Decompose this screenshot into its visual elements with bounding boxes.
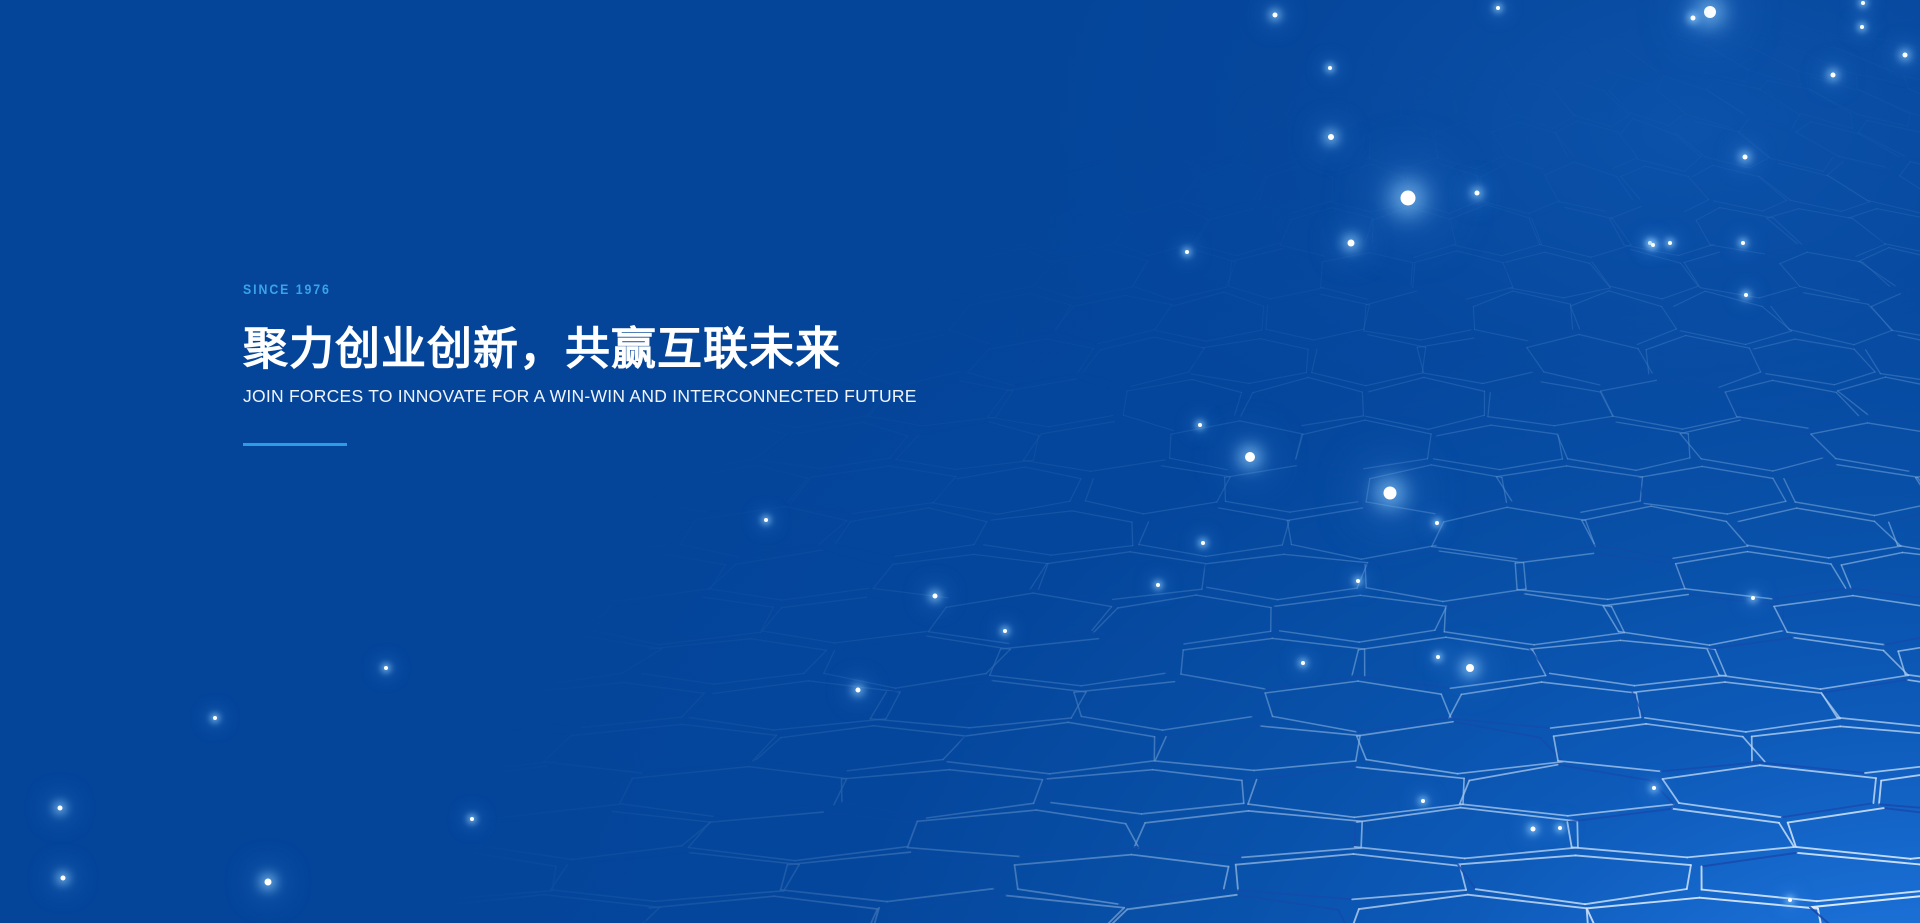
hex-mesh-pattern: [0, 0, 1920, 923]
hero-headline: 聚力创业创新，共赢互联未来: [243, 324, 1143, 374]
hero-eyebrow: SINCE 1976: [243, 282, 1035, 296]
hero-banner: SINCE 1976 聚力创业创新，共赢互联未来 JOIN FORCES TO …: [0, 0, 1920, 923]
hero-accent-bar: [243, 443, 347, 446]
hero-subheadline: JOIN FORCES TO INNOVATE FOR A WIN-WIN AN…: [243, 386, 1143, 407]
hero-text-block: SINCE 1976 聚力创业创新，共赢互联未来 JOIN FORCES TO …: [243, 282, 1143, 446]
